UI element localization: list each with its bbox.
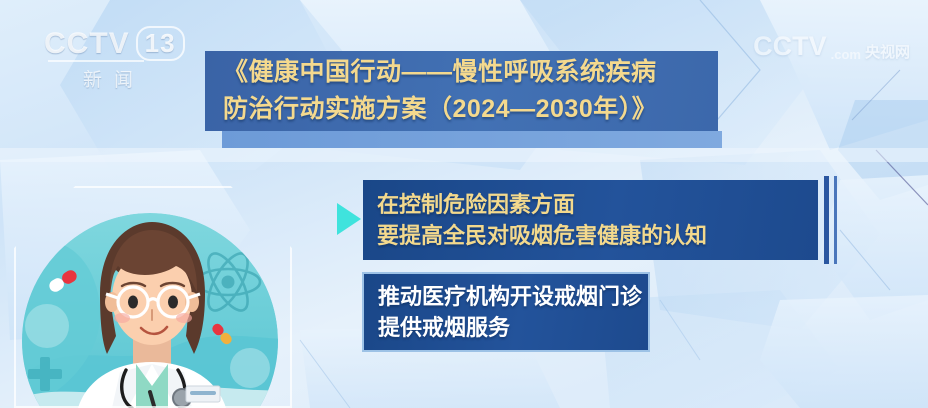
watermark-chinese: 央视网 — [865, 41, 910, 62]
broadcast-screen: CCTV 13 新闻 CCTV .com 央视网 《健康中国行动——慢性呼吸系统… — [0, 0, 928, 408]
cctv13-channel-logo: CCTV 13 新闻 — [44, 26, 184, 90]
title-line-2: 防治行动实施方案（2024—2030年）》 — [223, 91, 702, 128]
cctv-logo-row: CCTV 13 — [44, 26, 184, 61]
title-line-1: 《健康中国行动——慢性呼吸系统疾病 — [223, 54, 702, 91]
content-block-risk-factor-control: 在控制危险因素方面 要提高全民对吸烟危害健康的认知 — [363, 180, 818, 260]
watermark-domain: .com — [831, 47, 861, 62]
block1-line-2: 要提高全民对吸烟危害健康的认知 — [377, 220, 804, 251]
block2-line-1: 推动医疗机构开设戒烟门诊 — [378, 281, 634, 312]
logo-underline — [48, 60, 144, 62]
title-banner-shadow-bar — [222, 131, 722, 148]
channel-name-label: 新闻 — [44, 65, 184, 92]
play-triangle-icon — [337, 203, 361, 235]
channel-number: 13 — [136, 26, 185, 61]
watermark-brand: CCTV — [753, 31, 827, 62]
doctor-illustration — [0, 186, 300, 408]
block1-line-1: 在控制危险因素方面 — [377, 189, 804, 220]
block1-accent-bar-outer — [824, 176, 829, 264]
cctv-logo-text: CCTV — [44, 27, 130, 61]
content-block-smoking-cessation-clinic: 推动医疗机构开设戒烟门诊 提供戒烟服务 — [362, 272, 650, 352]
cctv-dot-com-watermark: CCTV .com 央视网 — [753, 18, 910, 62]
block1-accent-bar-inner — [834, 176, 837, 264]
illustration-hex-frame — [14, 186, 292, 408]
block2-line-2: 提供戒烟服务 — [378, 312, 634, 343]
title-banner: 《健康中国行动——慢性呼吸系统疾病 防治行动实施方案（2024—2030年）》 — [205, 51, 718, 131]
